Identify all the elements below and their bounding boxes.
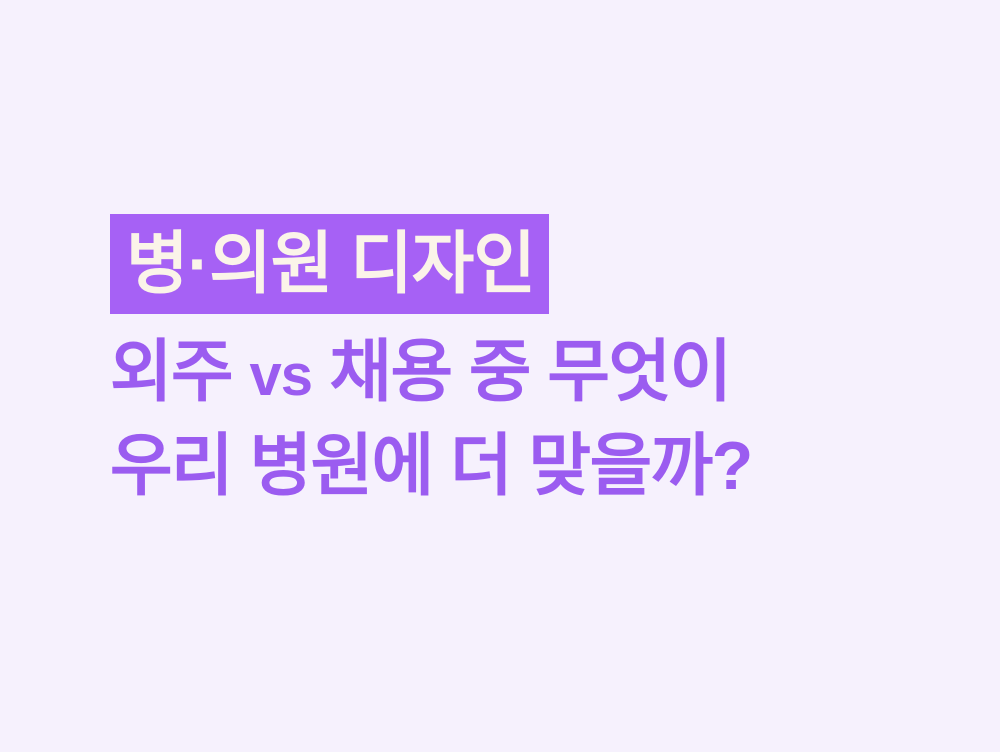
highlighted-category-badge: 병·의원 디자인 xyxy=(110,214,549,314)
headline-vs-label: vs xyxy=(250,343,313,408)
headline-line-2-suffix: 채용 중 무엇이 xyxy=(312,334,731,410)
headline-line-3: 우리 병원에 더 맞을까? xyxy=(110,422,930,510)
badge-line: 병·의원 디자인 xyxy=(110,214,930,314)
slide-canvas: 병·의원 디자인 외주 vs 채용 중 무엇이 우리 병원에 더 맞을까? xyxy=(0,0,1000,752)
headline-line-2: 외주 vs 채용 중 무엇이 xyxy=(110,328,930,420)
headline-block: 병·의원 디자인 외주 vs 채용 중 무엇이 우리 병원에 더 맞을까? xyxy=(110,214,930,510)
headline-line-2-prefix: 외주 xyxy=(110,334,250,410)
